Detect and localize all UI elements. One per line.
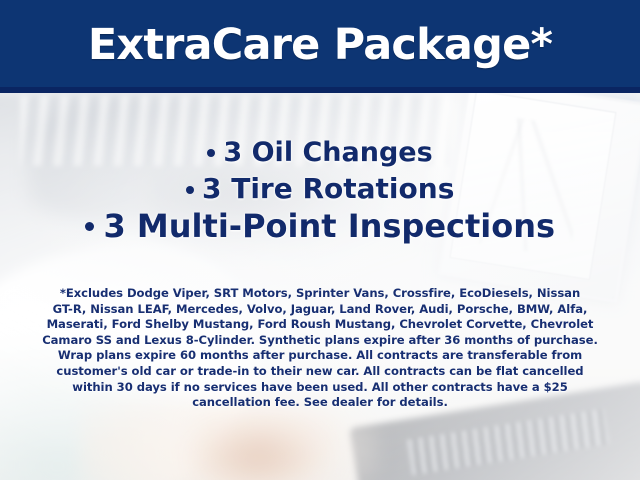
- page-title: ExtraCare Package*: [88, 24, 552, 67]
- disclaimer-line: Maserati, Ford Shelby Mustang, Ford Rous…: [26, 317, 614, 333]
- disclaimer-line: customer's old car or trade-in to their …: [26, 364, 614, 380]
- benefit-label-3: 3 Multi-Point Inspections: [104, 207, 556, 245]
- disclaimer-line: Wrap plans expire 60 months after purcha…: [26, 348, 614, 364]
- header-bar: ExtraCare Package*: [0, 0, 640, 93]
- list-item: 3 Multi-Point Inspections: [0, 209, 640, 245]
- list-item: 3 Tire Rotations: [0, 173, 640, 204]
- list-item: 3 Oil Changes: [0, 138, 640, 168]
- disclaimer-line: *Excludes Dodge Viper, SRT Motors, Sprin…: [26, 286, 614, 302]
- disclaimer-line: GT-R, Nissan LEAF, Mercedes, Volvo, Jagu…: [26, 302, 614, 318]
- disclaimer-line: cancellation fee. See dealer for details…: [26, 395, 614, 411]
- bullet-dot-icon: [207, 149, 215, 157]
- extracare-package-banner: ExtraCare Package* 3 Oil Changes 3 Tire …: [0, 0, 640, 480]
- disclaimer-text: *Excludes Dodge Viper, SRT Motors, Sprin…: [26, 286, 614, 411]
- benefit-label-1: 3 Oil Changes: [223, 137, 432, 168]
- disclaimer-line: within 30 days if no services have been …: [26, 380, 614, 396]
- bullet-dot-icon: [85, 222, 94, 231]
- benefit-label-2: 3 Tire Rotations: [202, 172, 454, 205]
- benefits-list: 3 Oil Changes 3 Tire Rotations 3 Multi-P…: [0, 138, 640, 244]
- bullet-dot-icon: [186, 186, 194, 194]
- photo-technician-shoulder: [196, 428, 316, 480]
- disclaimer-line: Camaro SS and Lexus 8-Cylinder. Syntheti…: [26, 333, 614, 349]
